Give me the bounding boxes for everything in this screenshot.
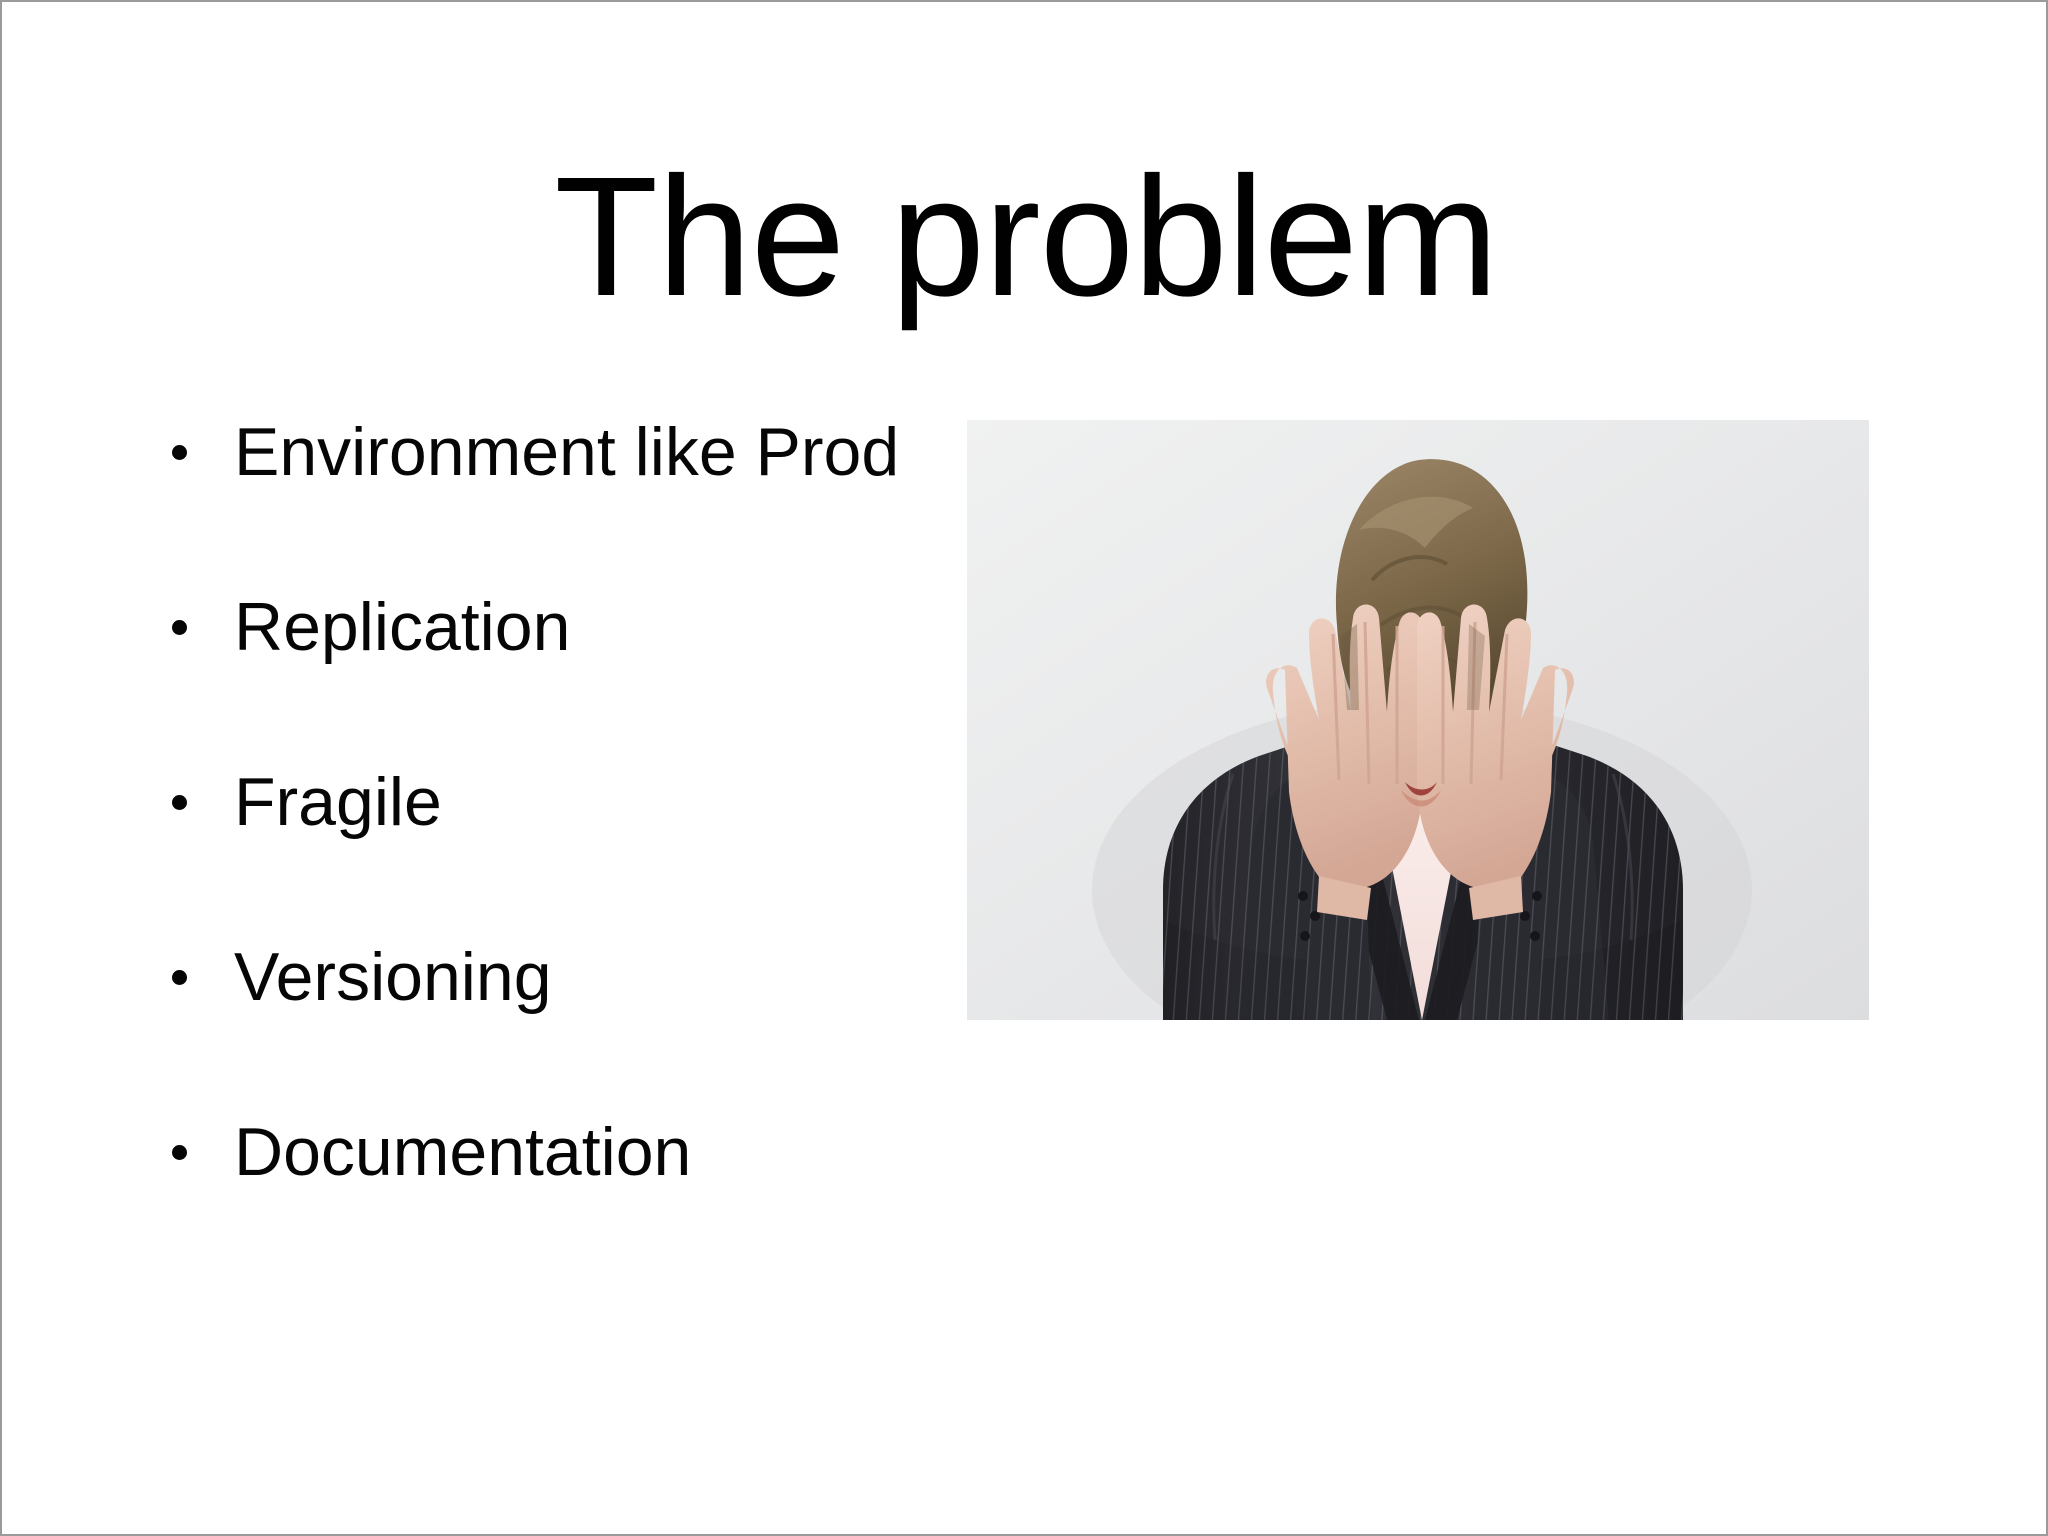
list-item: Versioning	[152, 927, 952, 1102]
bullet-list: Environment like Prod Replication Fragil…	[152, 402, 952, 1277]
list-item: Environment like Prod	[152, 402, 952, 577]
facepalm-photo	[967, 420, 1869, 1020]
list-item: Documentation	[152, 1102, 952, 1277]
list-item-label: Replication	[234, 577, 570, 677]
bullet-dot-icon	[172, 445, 187, 460]
list-item: Fragile	[152, 752, 952, 927]
list-item-label: Fragile	[234, 752, 442, 852]
list-item-label: Environment like Prod	[234, 402, 899, 502]
bullet-dot-icon	[172, 620, 187, 635]
bullet-dot-icon	[172, 795, 187, 810]
list-item: Replication	[152, 577, 952, 752]
bullet-dot-icon	[172, 1145, 187, 1160]
list-item-label: Documentation	[234, 1102, 691, 1202]
presentation-slide: The problem Environment like Prod Replic…	[0, 0, 2048, 1536]
bullet-dot-icon	[172, 970, 187, 985]
page-title: The problem	[2, 152, 2048, 322]
list-item-label: Versioning	[234, 927, 552, 1027]
